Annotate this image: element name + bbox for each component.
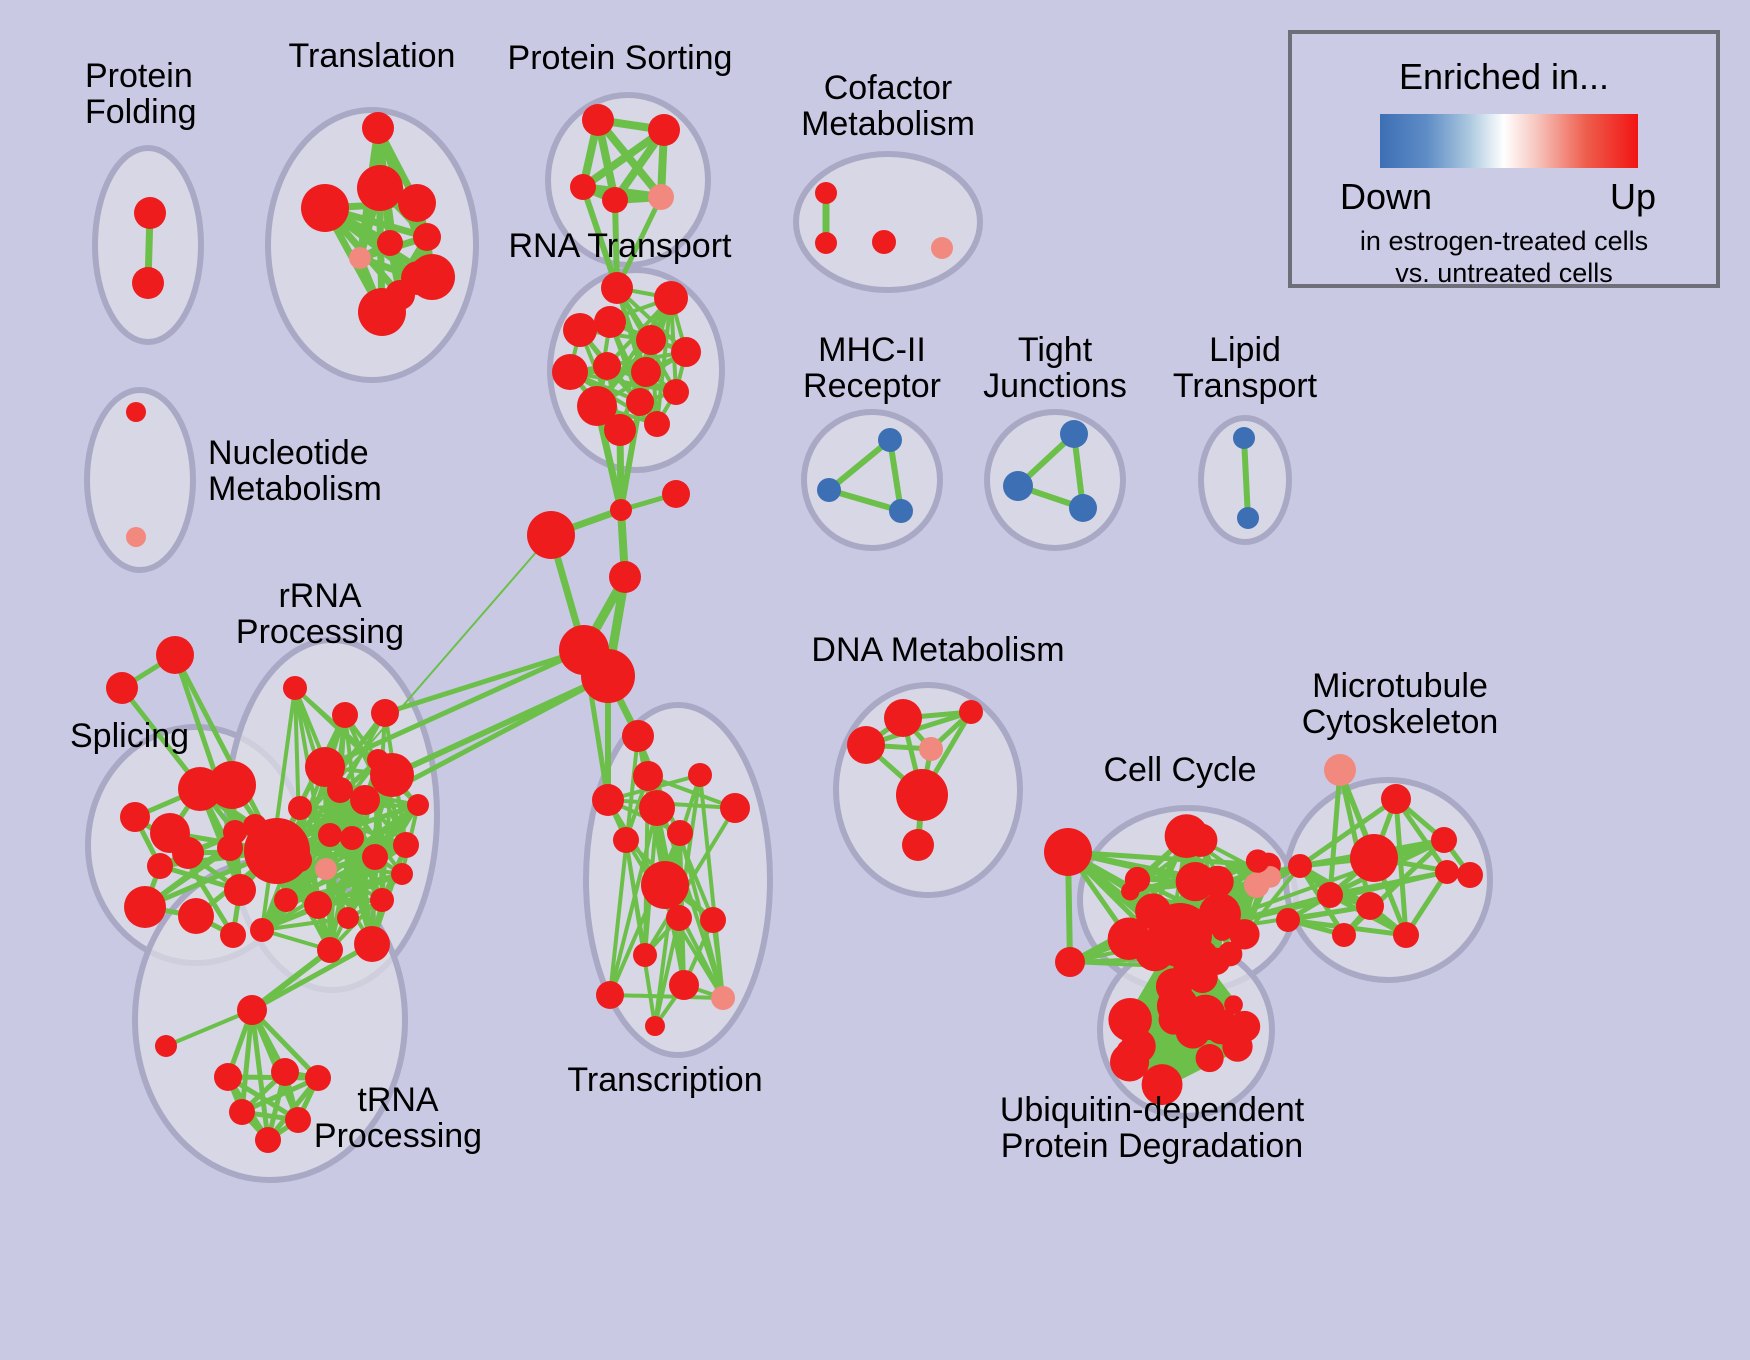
network-node[interactable] [645, 1016, 665, 1036]
network-node[interactable] [919, 737, 943, 761]
network-node[interactable] [581, 649, 635, 703]
network-node[interactable] [636, 325, 666, 355]
network-node[interactable] [671, 337, 701, 367]
network-node[interactable] [1276, 908, 1300, 932]
network-node[interactable] [847, 726, 885, 764]
cluster-label-protein-folding: Protein Folding [85, 58, 197, 130]
network-node[interactable] [285, 1107, 311, 1133]
network-node[interactable] [1246, 849, 1269, 872]
network-node[interactable] [1125, 867, 1150, 892]
network-node[interactable] [662, 480, 690, 508]
network-node[interactable] [563, 313, 597, 347]
network-node[interactable] [644, 411, 670, 437]
network-node[interactable] [815, 182, 837, 204]
network-node[interactable] [552, 354, 588, 390]
legend-low-label: Down [1340, 176, 1432, 218]
network-node[interactable] [667, 820, 693, 846]
cluster-label-splicing: Splicing [70, 718, 189, 754]
network-node[interactable] [711, 986, 735, 1010]
legend-caption: in estrogen-treated cellsvs. untreated c… [1292, 226, 1716, 290]
network-node[interactable] [604, 414, 636, 446]
network-node[interactable] [1233, 427, 1255, 449]
network-node[interactable] [358, 288, 406, 336]
network-node[interactable] [357, 165, 403, 211]
network-node[interactable] [413, 223, 441, 251]
cluster-label-dna-metabolism: DNA Metabolism [811, 632, 1064, 668]
network-node[interactable] [126, 402, 146, 422]
network-node[interactable] [362, 112, 394, 144]
network-node[interactable] [223, 820, 247, 844]
network-node[interactable] [407, 794, 429, 816]
network-node[interactable] [237, 995, 267, 1025]
network-node[interactable] [633, 761, 663, 791]
network-node[interactable] [1044, 828, 1092, 876]
network-node[interactable] [639, 790, 675, 826]
network-node[interactable] [1069, 494, 1097, 522]
cluster-label-cell-cycle: Cell Cycle [1103, 752, 1256, 788]
network-node[interactable] [582, 104, 614, 136]
enrichment-map-canvas: Protein FoldingTranslationProtein Sortin… [0, 0, 1750, 1360]
cluster-label-ubiquitin-protein-degradation: Ubiquitin-dependent Protein Degradation [1000, 1092, 1304, 1164]
network-node[interactable] [626, 388, 654, 416]
network-node[interactable] [622, 720, 654, 752]
network-node[interactable] [120, 802, 150, 832]
network-node[interactable] [1288, 854, 1312, 878]
network-node[interactable] [641, 861, 689, 909]
network-node[interactable] [1244, 872, 1270, 898]
legend-color-gradient-bar [1380, 114, 1638, 168]
network-node[interactable] [178, 898, 214, 934]
network-node[interactable] [1457, 862, 1483, 888]
network-node[interactable] [815, 232, 837, 254]
network-node[interactable] [1381, 784, 1411, 814]
network-node[interactable] [902, 829, 934, 861]
network-node[interactable] [288, 796, 312, 820]
network-node[interactable] [250, 918, 274, 942]
cluster-label-rna-transport: RNA Transport [509, 228, 732, 264]
network-node[interactable] [274, 888, 298, 912]
network-node[interactable] [318, 823, 342, 847]
legend-high-label: Up [1610, 176, 1656, 218]
network-node[interactable] [147, 853, 173, 879]
network-node[interactable] [1222, 1031, 1252, 1061]
network-node[interactable] [602, 187, 628, 213]
network-node[interactable] [283, 676, 307, 700]
network-node[interactable] [609, 561, 641, 593]
network-node[interactable] [878, 428, 902, 452]
network-node[interactable] [1435, 860, 1459, 884]
network-node[interactable] [1055, 947, 1085, 977]
network-node[interactable] [340, 826, 364, 850]
network-node[interactable] [1317, 882, 1343, 908]
cluster-label-translation: Translation [289, 38, 456, 74]
network-node[interactable] [224, 874, 256, 906]
network-node[interactable] [1431, 827, 1457, 853]
network-node[interactable] [592, 784, 624, 816]
network-node[interactable] [398, 184, 436, 222]
network-node[interactable] [648, 114, 680, 146]
network-node[interactable] [1060, 420, 1088, 448]
network-node[interactable] [594, 306, 626, 338]
network-node[interactable] [220, 922, 246, 948]
network-node[interactable] [1196, 1044, 1224, 1072]
network-node[interactable] [601, 272, 633, 304]
network-node[interactable] [720, 793, 750, 823]
network-node[interactable] [884, 699, 922, 737]
cluster-label-transcription: Transcription [567, 1062, 762, 1098]
network-node[interactable] [271, 1058, 299, 1086]
network-node[interactable] [688, 763, 712, 787]
network-node[interactable] [315, 858, 337, 880]
legend-caption-line1: in estrogen-treated cells [1360, 226, 1648, 256]
network-edge [1244, 438, 1248, 518]
network-node[interactable] [669, 970, 699, 1000]
network-node[interactable] [304, 891, 332, 919]
cluster-label-protein-sorting: Protein Sorting [508, 40, 733, 76]
network-node[interactable] [317, 937, 343, 963]
network-node[interactable] [633, 943, 657, 967]
legend-panel: Enriched in... Down Up in estrogen-treat… [1288, 30, 1720, 288]
network-node[interactable] [172, 837, 204, 869]
network-node[interactable] [896, 769, 948, 821]
network-node[interactable] [596, 981, 624, 1009]
network-node[interactable] [959, 700, 983, 724]
network-node[interactable] [155, 1035, 177, 1057]
network-node[interactable] [570, 174, 596, 200]
network-node[interactable] [1121, 1029, 1156, 1064]
network-node[interactable] [370, 888, 394, 912]
cluster-label-microtubule-cytoskeleton: Microtubule Cytoskeleton [1302, 668, 1499, 740]
network-node[interactable] [362, 844, 388, 870]
legend-caption-line2: vs. untreated cells [1395, 258, 1613, 288]
network-node[interactable] [1176, 862, 1215, 901]
network-node[interactable] [377, 230, 403, 256]
network-node[interactable] [354, 926, 390, 962]
network-node[interactable] [134, 197, 166, 229]
network-node[interactable] [1148, 903, 1212, 967]
network-node[interactable] [593, 352, 621, 380]
cluster-label-cofactor-metabolism: Cofactor Metabolism [801, 70, 975, 142]
network-node[interactable] [663, 379, 689, 405]
network-node[interactable] [889, 499, 913, 523]
network-node[interactable] [332, 702, 358, 728]
legend-title: Enriched in... [1292, 56, 1716, 98]
network-node[interactable] [1356, 892, 1384, 920]
network-node[interactable] [327, 777, 353, 803]
network-node[interactable] [1186, 995, 1226, 1035]
cluster-label-tight-junctions: Tight Junctions [983, 332, 1127, 404]
network-node[interactable] [124, 886, 166, 928]
network-node[interactable] [666, 905, 692, 931]
network-node[interactable] [872, 230, 896, 254]
network-node[interactable] [613, 827, 639, 853]
cluster-label-nucleotide-metabolism: Nucleotide Metabolism [208, 435, 382, 507]
network-node[interactable] [1350, 834, 1398, 882]
network-node[interactable] [337, 907, 359, 929]
network-node[interactable] [1237, 507, 1259, 529]
network-node[interactable] [700, 907, 726, 933]
cluster-label-mhc-ii-receptor: MHC-II Receptor [803, 332, 941, 404]
network-node[interactable] [1224, 995, 1243, 1014]
network-node[interactable] [1332, 923, 1356, 947]
network-node[interactable] [393, 832, 419, 858]
cluster-label-lipid-transport: Lipid Transport [1173, 332, 1317, 404]
network-node[interactable] [1165, 814, 1209, 858]
cluster-label-rrna-processing: rRNA Processing [236, 578, 404, 650]
network-node[interactable] [817, 478, 841, 502]
cluster-label-trna-processing: tRNA Processing [314, 1082, 482, 1154]
network-node[interactable] [349, 247, 371, 269]
network-node[interactable] [631, 357, 661, 387]
network-node[interactable] [409, 254, 455, 300]
network-node[interactable] [229, 1099, 255, 1125]
network-node[interactable] [371, 699, 399, 727]
network-node[interactable] [610, 499, 632, 521]
network-node[interactable] [648, 184, 674, 210]
network-node[interactable] [255, 1127, 281, 1153]
network-node[interactable] [1003, 471, 1033, 501]
network-node[interactable] [654, 281, 688, 315]
network-node[interactable] [208, 761, 256, 809]
network-node[interactable] [527, 511, 575, 559]
network-node[interactable] [391, 863, 413, 885]
network-node[interactable] [931, 237, 953, 259]
network-node[interactable] [1324, 754, 1356, 786]
network-node[interactable] [156, 636, 194, 674]
network-node[interactable] [106, 672, 138, 704]
network-node[interactable] [214, 1063, 242, 1091]
network-node[interactable] [126, 527, 146, 547]
network-node[interactable] [1229, 919, 1259, 949]
network-node[interactable] [132, 267, 164, 299]
network-node[interactable] [370, 753, 414, 797]
network-node[interactable] [244, 818, 310, 884]
network-node[interactable] [1393, 922, 1419, 948]
network-node[interactable] [301, 184, 349, 232]
